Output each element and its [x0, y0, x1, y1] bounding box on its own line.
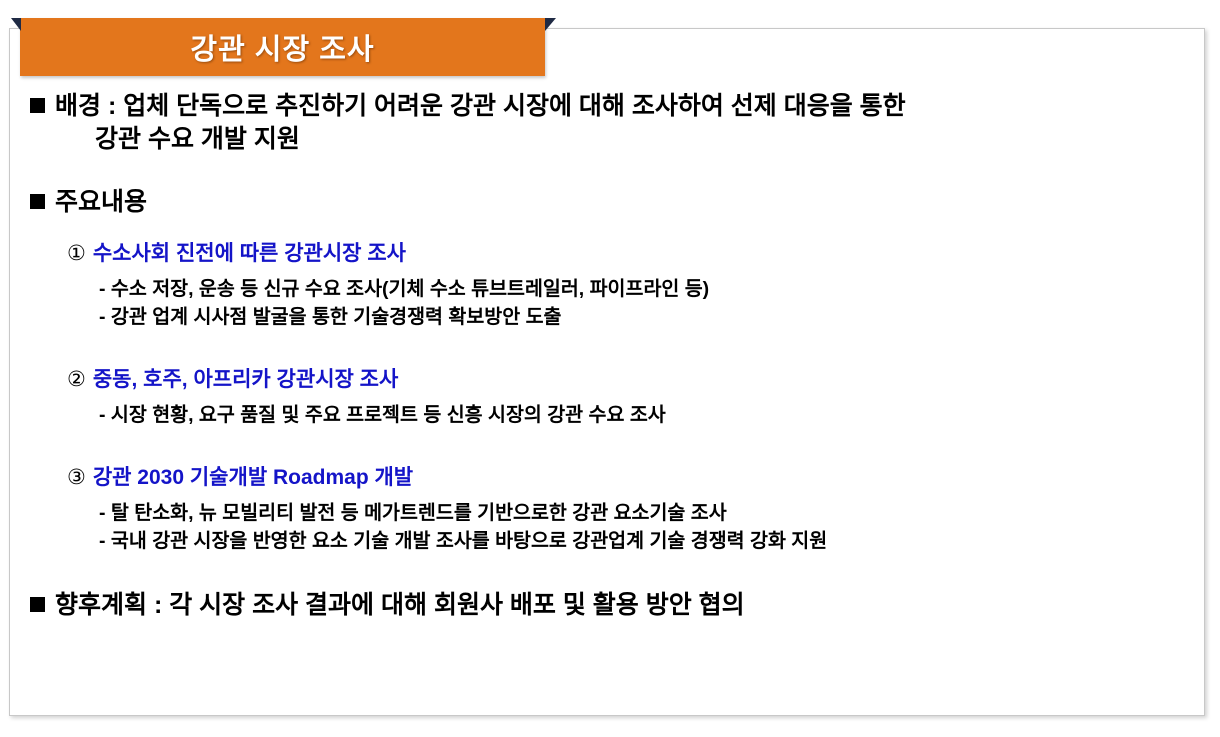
- background-line-2: 강관 수요 개발 지원: [95, 123, 1187, 156]
- item-2-detail-1: - 시장 현황, 요구 품질 및 주요 프로젝트 등 신흥 시장의 강관 수요 …: [99, 402, 1187, 430]
- spacer: [27, 555, 1187, 589]
- main-contents-heading: 주요내용: [55, 186, 1187, 219]
- slide-root: 강관 시장 조사 배경 : 업체 단독으로 추진하기 어려운 강관 시장에 대해…: [0, 0, 1220, 737]
- item-3-title: 강관 2030 기술개발 Roadmap 개발: [93, 466, 413, 489]
- future-plan-line-1: 향후계획 : 각 시장 조사 결과에 대해 회원사 배포 및 활용 방안 협의: [55, 589, 1187, 622]
- item-3-detail-2: - 국내 강관 시장을 반영한 요소 기술 개발 조사를 바탕으로 강관업계 기…: [99, 528, 1187, 556]
- spacer: [27, 219, 1187, 240]
- background-heading-row: 배경 : 업체 단독으로 추진하기 어려운 강관 시장에 대해 조사하여 선제 …: [27, 90, 1187, 123]
- spacer: [27, 393, 1187, 402]
- main-content-item-3: ③강관 2030 기술개발 Roadmap 개발 - 탈 탄소화, 뉴 모빌리티…: [27, 464, 1187, 556]
- banner-corner-notch-left-icon: [11, 18, 21, 31]
- banner-corner-notch-right-icon: [545, 18, 556, 31]
- main-content-item-2: ②중동, 호주, 아프리카 강관시장 조사 - 시장 현황, 요구 품질 및 주…: [27, 366, 1187, 430]
- section-future-plan: 향후계획 : 각 시장 조사 결과에 대해 회원사 배포 및 활용 방안 협의: [27, 589, 1187, 622]
- future-plan-heading-row: 향후계획 : 각 시장 조사 결과에 대해 회원사 배포 및 활용 방안 협의: [27, 589, 1187, 622]
- section-main-contents: 주요내용 ①수소사회 진전에 따른 강관시장 조사 - 수소 저장, 운송 등 …: [27, 186, 1187, 555]
- square-bullet-icon: [30, 597, 45, 612]
- spacer: [27, 156, 1187, 186]
- item-3-detail-1: - 탈 탄소화, 뉴 모빌리티 발전 등 메가트렌드를 기반으로한 강관 요소기…: [99, 500, 1187, 528]
- page-title: 강관 시장 조사: [20, 26, 545, 68]
- slide-content: 배경 : 업체 단독으로 추진하기 어려운 강관 시장에 대해 조사하여 선제 …: [9, 28, 1205, 716]
- main-content-item-1: ①수소사회 진전에 따른 강관시장 조사 - 수소 저장, 운송 등 신규 수요…: [27, 240, 1187, 332]
- spacer: [27, 267, 1187, 276]
- item-1-title: 수소사회 진전에 따른 강관시장 조사: [93, 242, 406, 265]
- item-3-number: ③: [67, 464, 86, 491]
- main-contents-heading-row: 주요내용: [27, 186, 1187, 219]
- item-1-title-row: ①수소사회 진전에 따른 강관시장 조사: [67, 240, 1187, 267]
- title-banner: 강관 시장 조사: [20, 18, 545, 76]
- item-1-detail-2: - 강관 업계 시사점 발굴을 통한 기술경쟁력 확보방안 도출: [99, 304, 1187, 332]
- item-1-number: ①: [67, 240, 86, 267]
- item-1-detail-1: - 수소 저장, 운송 등 신규 수요 조사(기체 수소 튜브트레일러, 파이프…: [99, 276, 1187, 304]
- section-background: 배경 : 업체 단독으로 추진하기 어려운 강관 시장에 대해 조사하여 선제 …: [27, 90, 1187, 156]
- square-bullet-icon: [30, 194, 45, 209]
- square-bullet-icon: [30, 98, 45, 113]
- spacer: [27, 332, 1187, 366]
- item-3-title-row: ③강관 2030 기술개발 Roadmap 개발: [67, 464, 1187, 491]
- spacer: [27, 491, 1187, 500]
- item-2-title-row: ②중동, 호주, 아프리카 강관시장 조사: [67, 366, 1187, 393]
- spacer: [27, 430, 1187, 464]
- item-2-title: 중동, 호주, 아프리카 강관시장 조사: [93, 368, 399, 391]
- item-2-number: ②: [67, 366, 86, 393]
- background-line-1: 배경 : 업체 단독으로 추진하기 어려운 강관 시장에 대해 조사하여 선제 …: [55, 90, 1187, 123]
